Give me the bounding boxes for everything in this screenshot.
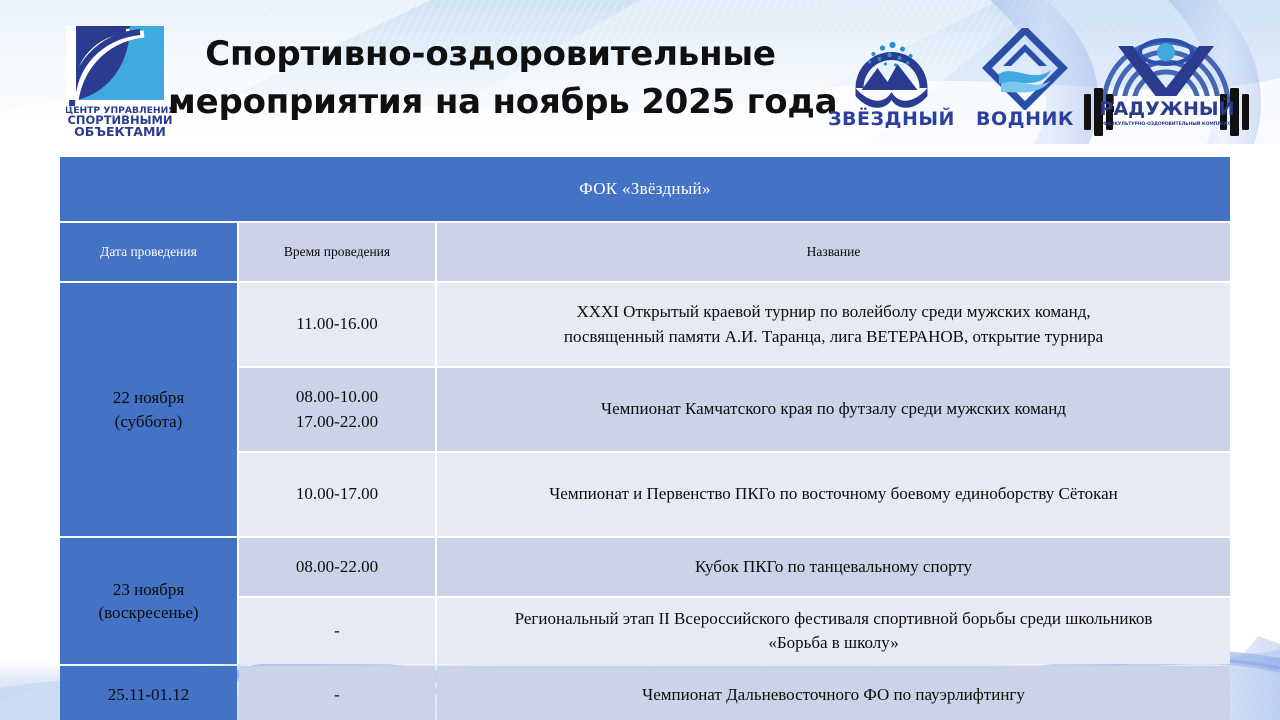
date-cell-23-november: 23 ноября (воскресенье) [60,538,237,664]
event-name-line-2: «Борьба в школу» [768,633,898,652]
time-line-1: 11.00-16.00 [296,314,378,333]
time-cell: 10.00-17.00 [239,453,435,536]
vodnik-logo-caption: ВОДНИК [966,108,1084,130]
title-line-1: Спортивно-оздоровительные [168,30,813,78]
org-logo-line-3: ОБЪЕКТАМИ [74,124,166,138]
header-time: Время проведения [239,223,435,281]
date-line-1: 25.11-01.12 [108,685,190,704]
event-name-line-1: Региональный этап II Всероссийского фест… [515,609,1153,628]
event-name-cell: Региональный этап II Всероссийского фест… [437,598,1230,664]
raduzhny-logo-caption: РАДУЖНЫЙ [1100,97,1235,120]
date-line-2: (воскресенье) [98,603,198,622]
schedule-table: ФОК «Звёздный» Дата проведения Время про… [58,155,1232,720]
time-line-1: 08.00-10.00 [296,387,378,406]
venue-banner-row: ФОК «Звёздный» [60,157,1230,221]
time-cell: 11.00-16.00 [239,283,435,366]
time-cell: - [239,666,435,720]
page-title: Спортивно-оздоровительные мероприятия на… [168,30,813,127]
time-cell: 08.00-22.00 [239,538,435,596]
raduzhny-barbell-icon: РАДУЖНЫЙ ФИЗКУЛЬТУРНО-ОЗДОРОВИТЕЛЬНЫЙ КО… [1074,22,1259,140]
time-cell: 08.00-10.00 17.00-22.00 [239,368,435,451]
table-row: 25.11-01.12 - Чемпионат Дальневосточного… [60,666,1230,720]
center-sport-objects-logo: ЦЕНТР УПРАВЛЕНИЯ СПОРТИВНЫМИ ОБЪЕКТАМИ [66,26,174,138]
event-name-line-1: Кубок ПКГо по танцевальному спорту [695,557,972,576]
time-line-1: 08.00-22.00 [296,557,378,576]
column-header-row: Дата проведения Время проведения Названи… [60,223,1230,281]
time-line-1: - [334,685,340,704]
table-row: 23 ноября (воскресенье) 08.00-22.00 Кубо… [60,538,1230,596]
title-line-2: мероприятия на ноябрь 2025 года [168,78,813,126]
slide-header: ЦЕНТР УПРАВЛЕНИЯ СПОРТИВНЫМИ ОБЪЕКТАМИ С… [0,0,1280,150]
zvezdny-logo: ЗВЁЗДНЫЙ [824,28,959,130]
date-cell-25-11-01-12: 25.11-01.12 [60,666,237,720]
schedule-table-container: ФОК «Звёздный» Дата проведения Время про… [58,155,1228,720]
event-name-cell: Чемпионат и Первенство ПКГо по восточном… [437,453,1230,536]
event-name-line-1: Чемпионат и Первенство ПКГо по восточном… [549,484,1118,503]
event-name-line-2: посвященный памяти А.И. Таранца, лига ВЕ… [564,327,1103,346]
time-line-1: - [334,621,340,640]
date-line-1: 23 ноября [113,580,184,599]
vodnik-diamond-icon [966,28,1084,110]
date-line-1: 22 ноября [113,388,184,407]
time-line-2: 17.00-22.00 [296,412,378,431]
event-name-cell: XXXI Открытый краевой турнир по волейбол… [437,283,1230,366]
event-name-cell: Чемпионат Дальневосточного ФО по пауэрли… [437,666,1230,720]
event-name-line-1: XXXI Открытый краевой турнир по волейбол… [576,302,1090,321]
facility-logos: ЗВЁЗДНЫЙ ВОДНИК [824,22,1264,142]
zvezdny-mountain-icon [824,28,959,110]
date-line-2: (суббота) [115,412,183,431]
header-date: Дата проведения [60,223,237,281]
zvezdny-logo-caption: ЗВЁЗДНЫЙ [824,108,959,130]
event-name-line-1: Чемпионат Камчатского края по футзалу ср… [601,399,1066,418]
event-name-cell: Чемпионат Камчатского края по футзалу ср… [437,368,1230,451]
vodnik-logo: ВОДНИК [966,28,1084,130]
table-row: 22 ноября (суббота) 11.00-16.00 XXXI Отк… [60,283,1230,366]
date-cell-22-november: 22 ноября (суббота) [60,283,237,536]
raduzhny-logo: РАДУЖНЫЙ ФИЗКУЛЬТУРНО-ОЗДОРОВИТЕЛЬНЫЙ КО… [1074,22,1259,140]
event-name-line-1: Чемпионат Дальневосточного ФО по пауэрли… [642,685,1025,704]
event-name-cell: Кубок ПКГо по танцевальному спорту [437,538,1230,596]
header-name: Название [437,223,1230,281]
time-cell: - [239,598,435,664]
venue-banner: ФОК «Звёздный» [60,157,1230,221]
time-line-1: 10.00-17.00 [296,484,378,503]
